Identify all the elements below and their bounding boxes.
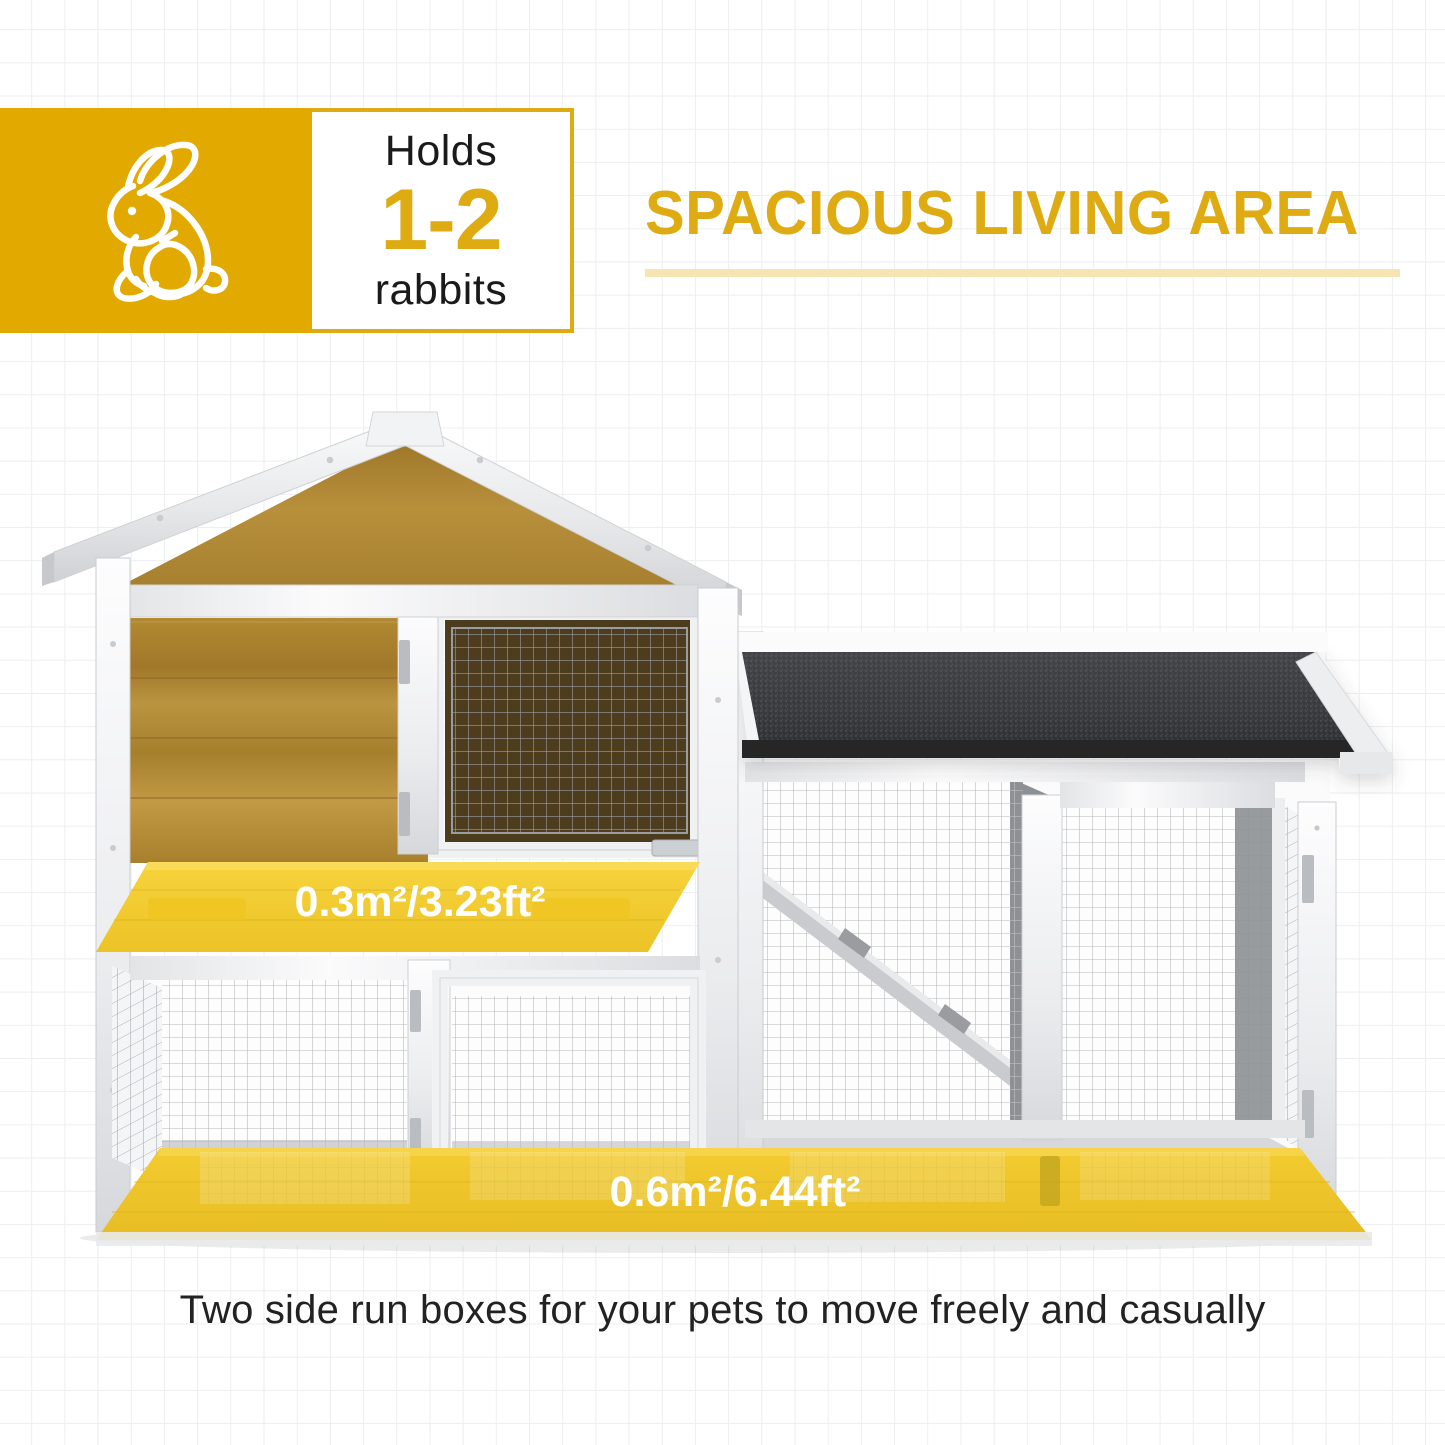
capacity-badge: Holds 1-2 rabbits bbox=[0, 108, 574, 333]
headline-block: SPACIOUS LIVING AREA bbox=[645, 178, 1435, 277]
asphalt-roof bbox=[735, 648, 1392, 774]
rabbit-icon bbox=[76, 137, 236, 305]
upper-highlight-tab-right bbox=[532, 898, 630, 920]
lower-run-left bbox=[112, 956, 700, 1180]
page-title: SPACIOUS LIVING AREA bbox=[645, 178, 1403, 249]
upper-area-highlight: 0.3m²/3.23ft² bbox=[96, 862, 700, 952]
badge-line2: rabbits bbox=[375, 269, 508, 312]
run-door-hinge-top bbox=[1302, 855, 1314, 903]
upper-wood-siding bbox=[128, 618, 428, 863]
footer-caption: Two side run boxes for your pets to move… bbox=[0, 1288, 1445, 1333]
badge-capacity-count: 1-2 bbox=[380, 177, 501, 263]
badge-icon-panel bbox=[0, 108, 312, 333]
right-run-enclosure bbox=[728, 632, 1392, 1232]
lower-door-hinge-top bbox=[410, 990, 421, 1032]
run-post-mid bbox=[1022, 795, 1062, 1140]
upper-area-label: 0.3m²/3.23ft² bbox=[295, 878, 546, 926]
lower-left-side-mesh bbox=[112, 966, 162, 1180]
badge-text-panel: Holds 1-2 rabbits bbox=[312, 108, 574, 333]
lower-area-label: 0.6m²/6.44ft² bbox=[610, 1168, 861, 1216]
base-rail bbox=[96, 1232, 1372, 1246]
lower-area-highlight: 0.6m²/6.44ft² bbox=[96, 1148, 1372, 1240]
run-mesh-panel-left bbox=[760, 778, 1010, 1130]
upper-door-hinge-bottom bbox=[399, 792, 410, 836]
upper-door-mesh bbox=[452, 628, 687, 833]
upper-door-hinge-top bbox=[399, 640, 410, 684]
lower-run-latch bbox=[1040, 1156, 1060, 1206]
roof-ridge-cap bbox=[366, 412, 444, 446]
headline-underline bbox=[645, 269, 1400, 277]
badge-line1: Holds bbox=[385, 130, 497, 173]
upper-highlight-tab-left bbox=[148, 898, 246, 920]
gable-header-beam bbox=[120, 585, 698, 617]
product-image: 0.3m²/3.23ft² 0.6m²/6.44ft² bbox=[0, 400, 1445, 1280]
